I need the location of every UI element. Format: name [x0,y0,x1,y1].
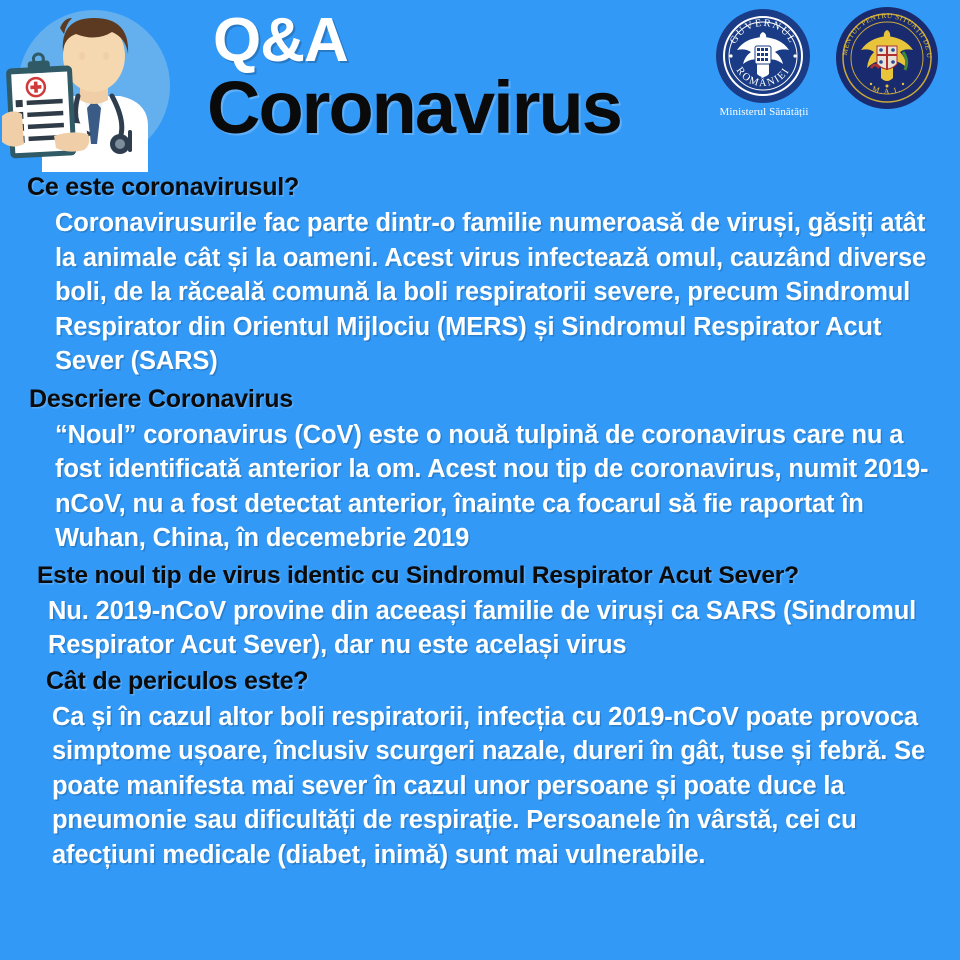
guvernul-romaniei-emblem: GUVERNUL ROMÂNIEI [715,8,811,104]
question-heading-3: Este noul tip de virus identic cu Sindro… [0,560,960,591]
qa-content: Ce este coronavirusul? Coronavirusurile … [0,172,960,872]
question-heading-4: Cât de periculos este? [0,666,960,697]
answer-body-2: “Noul” coronavirus (CoV) este o nouă tul… [0,418,960,556]
doctor-illustration [2,4,178,172]
answer-body-3: Nu. 2019-nCoV provine din aceeași famili… [0,594,960,663]
answer-body-1: Coronavirusurile fac parte dintr-o famil… [0,206,960,379]
title-block: Q&A Coronavirus [205,6,705,166]
qa-section-1: Ce este coronavirusul? Coronavirusurile … [0,172,960,379]
poster-header: Q&A Coronavirus GUVERNUL ROMÂNIEI [0,0,960,172]
answer-body-4: Ca și în cazul altor boli respiratorii, … [0,700,960,873]
departamentul-situatii-urgenta-emblem: DEPARTAMENTUL PENTRU SITUAȚII DE URGENȚĂ… [835,6,939,110]
emblems-group: GUVERNUL ROMÂNIEI [707,4,952,144]
question-heading-1: Ce este coronavirusul? [0,172,960,203]
title-qa: Q&A [213,10,705,72]
title-coronavirus: Coronavirus [207,70,705,146]
qa-section-2: Descriere Coronavirus “Noul” coronavirus… [0,384,960,556]
ministerul-sanatatii-label: Ministerul Sănătății [703,106,825,118]
qa-section-4: Cât de periculos este? Ca și în cazul al… [0,666,960,873]
poster-root: Q&A Coronavirus GUVERNUL ROMÂNIEI [0,0,960,960]
qa-section-3: Este noul tip de virus identic cu Sindro… [0,560,960,663]
question-heading-2: Descriere Coronavirus [0,384,960,415]
